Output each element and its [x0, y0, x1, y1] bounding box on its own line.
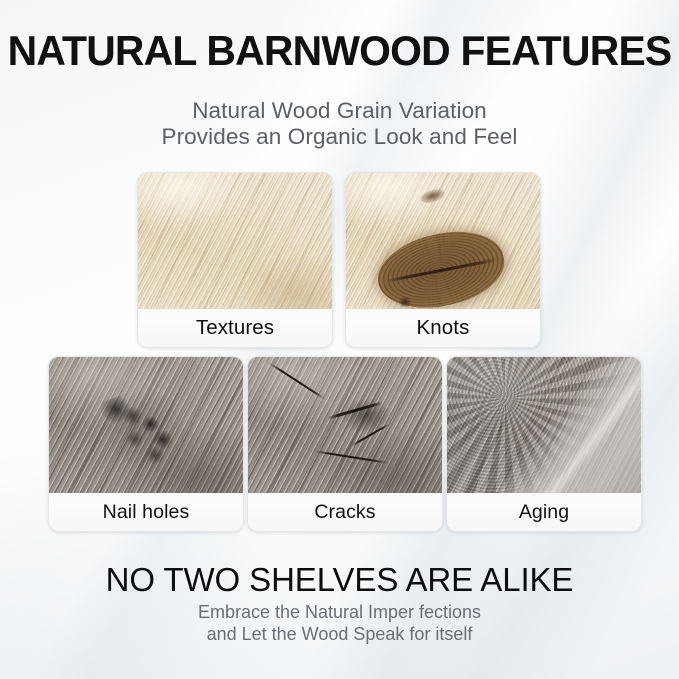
card-cracks-image [248, 357, 442, 495]
bottom-title: NO TWO SHELVES ARE ALIKE [0, 561, 679, 599]
knot-small-mark [418, 186, 446, 206]
grain-shadow-blotch [235, 253, 332, 311]
card-nail-holes-image [49, 357, 243, 495]
footnote-line-1: Embrace the Natural Imper fections [0, 601, 679, 623]
card-cracks[interactable]: Cracks [247, 356, 443, 532]
texture-gray-barnwood-aging [447, 357, 641, 495]
card-aging[interactable]: Aging [446, 356, 642, 532]
barnwood-features-poster: NATURAL BARNWOOD FEATURES Natural Wood G… [0, 0, 679, 679]
aging-boundary-seam [447, 357, 641, 495]
card-textures[interactable]: Textures [137, 172, 333, 348]
crack-shadow-patch [341, 398, 391, 434]
card-knots-label: Knots [346, 309, 540, 347]
grain-highlight-blotch [138, 173, 247, 228]
knot-rings-icon [371, 220, 512, 311]
texture-oak-with-knot [346, 173, 540, 311]
subtitle-line-1: Natural Wood Grain Variation [0, 98, 679, 124]
card-aging-label: Aging [447, 493, 641, 531]
texture-pale-oak-grain [138, 173, 332, 311]
subtitle-line-2: Provides an Organic Look and Feel [0, 124, 679, 150]
subtitle-block: Natural Wood Grain Variation Provides an… [0, 98, 679, 150]
knot-group [346, 173, 540, 311]
card-knots-image [346, 173, 540, 311]
card-nail-holes[interactable]: Nail holes [48, 356, 244, 532]
texture-gray-barnwood-cracks [248, 357, 442, 495]
card-nail-holes-label: Nail holes [49, 493, 243, 531]
card-textures-label: Textures [138, 309, 332, 347]
footnote-line-2: and Let the Wood Speak for itself [0, 623, 679, 645]
card-knots[interactable]: Knots [345, 172, 541, 348]
texture-gray-barnwood-nail-holes [49, 357, 243, 495]
card-textures-image [138, 173, 332, 311]
page-title: NATURAL BARNWOOD FEATURES [5, 27, 674, 75]
knot-nub-mark [398, 297, 412, 307]
footnote-block: Embrace the Natural Imper fections and L… [0, 601, 679, 645]
knot-split-line [386, 258, 497, 282]
card-cracks-label: Cracks [248, 493, 442, 531]
card-aging-image [447, 357, 641, 495]
